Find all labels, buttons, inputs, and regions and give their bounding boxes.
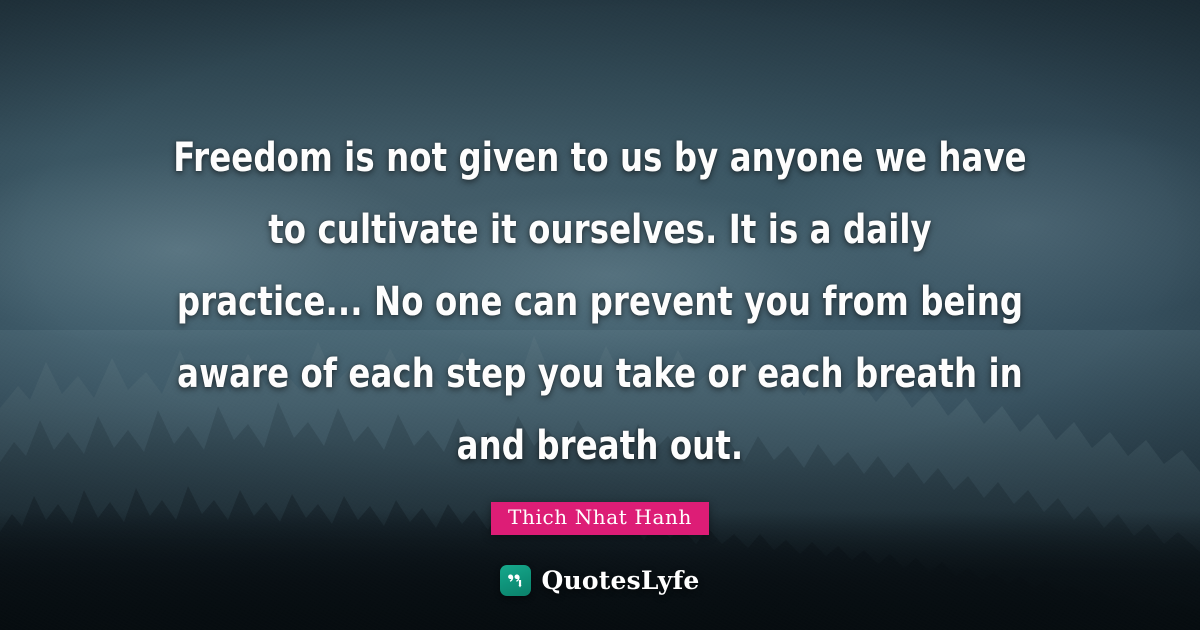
card-content: Freedom is not given to us by anyone we … [0,0,1200,630]
author-badge[interactable]: Thich Nhat Hanh [491,502,709,535]
quote-text: Freedom is not given to us by anyone we … [150,122,1050,482]
quote-mark-icon [500,565,531,596]
brand-name: QuotesLyfe [541,566,699,595]
quote-card: Freedom is not given to us by anyone we … [0,0,1200,630]
brand-logo[interactable]: QuotesLyfe [500,565,699,596]
author-area: Thich Nhat Hanh [491,502,709,535]
